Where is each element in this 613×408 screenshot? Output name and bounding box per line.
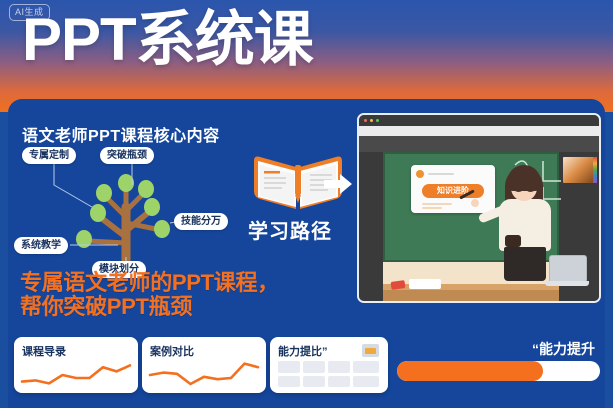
- slide-title-line: [428, 173, 454, 175]
- mindmap-node-3[interactable]: 系统教学: [14, 237, 68, 254]
- headline-line-1: 专属语文老师的PPT课程，: [20, 271, 279, 295]
- progress-label: “能力提升: [532, 339, 595, 359]
- card-case-comparison[interactable]: 案例对比: [142, 337, 266, 393]
- card-ability-grid[interactable]: 能力提比”: [270, 337, 388, 393]
- content-panel: 语文老师PPT课程核心内容: [8, 99, 605, 408]
- laptop-icon: [545, 255, 589, 289]
- slide-body-line-2: [422, 207, 442, 209]
- headline: 专属语文老师的PPT课程， 帮你突破PPT瓶颈: [20, 271, 279, 319]
- page-title: PPT系统课: [22, 10, 313, 70]
- section-title: 语文老师PPT课程核心内容: [22, 122, 220, 146]
- learning-path-block: 学习路径: [246, 149, 356, 254]
- desk-paper: [409, 279, 441, 289]
- grid-cell: [303, 361, 325, 373]
- arrow-right-icon: [324, 173, 354, 195]
- progress-fill: [397, 361, 543, 381]
- illustration-window: 知识进阶: [357, 113, 601, 303]
- line-chart-1: [142, 351, 266, 393]
- mindmap-tree: 专属定制 突破瓶颈 技能分万 系统教学 模块划分: [14, 145, 244, 265]
- grid-cell: [353, 376, 379, 387]
- window-tabbar[interactable]: [359, 126, 599, 136]
- progress-bar[interactable]: [397, 361, 600, 381]
- headline-line-2: 帮你突破PPT瓶颈: [20, 295, 279, 319]
- color-strip[interactable]: [593, 157, 597, 183]
- grid-cell: [328, 361, 350, 373]
- header-banner: AI生成 PPT系统课: [0, 0, 613, 112]
- mindmap-node-1[interactable]: 突破瓶颈: [100, 147, 154, 164]
- minimize-icon[interactable]: [370, 119, 373, 122]
- slide-logo-icon: [416, 170, 424, 178]
- slide-body-line-1: [422, 203, 452, 205]
- line-chart-0: [14, 351, 138, 393]
- grid-cell: [303, 376, 325, 387]
- maximize-icon[interactable]: [376, 119, 379, 122]
- grid-cell: [278, 376, 300, 387]
- window-titlebar[interactable]: [359, 115, 599, 126]
- presentation-slide: 知识进阶: [411, 165, 495, 213]
- slide-pill-label: 知识进阶: [422, 184, 484, 198]
- mindmap-node-2[interactable]: 技能分万: [174, 213, 228, 230]
- glasses-right-icon: [525, 183, 536, 192]
- close-icon[interactable]: [364, 119, 367, 122]
- window-toolbar[interactable]: [359, 136, 599, 152]
- tool-panel-left[interactable]: [359, 152, 383, 301]
- glasses-left-icon: [513, 183, 524, 192]
- mindmap-node-0[interactable]: 专属定制: [22, 147, 76, 164]
- learning-path-label: 学习路径: [248, 215, 332, 244]
- grid-cell: [328, 376, 350, 387]
- image-placeholder-icon: [362, 344, 379, 357]
- grid-cell: [278, 361, 300, 373]
- poster-root: AI生成 PPT系统课 语文老师PPT课程核心内容: [0, 0, 613, 408]
- card-course-outline[interactable]: 课程导录: [14, 337, 138, 393]
- card-title: 能力提比”: [278, 343, 328, 359]
- grid-cell: [353, 361, 379, 373]
